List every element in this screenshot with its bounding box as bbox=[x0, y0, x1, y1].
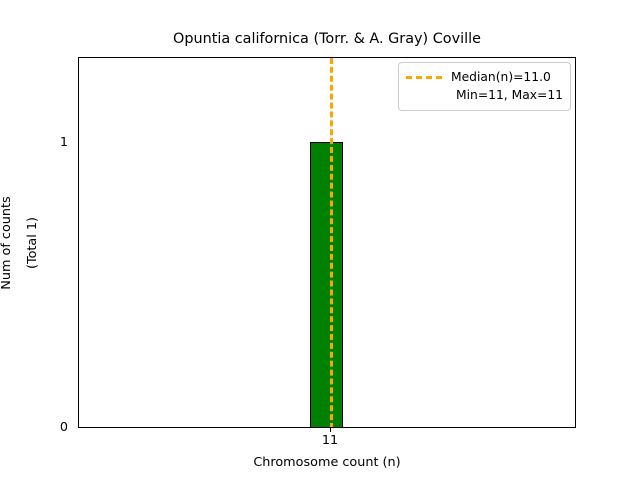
plot-area bbox=[78, 57, 576, 428]
legend-label-range: Min=11, Max=11 bbox=[456, 86, 563, 104]
legend-dash-icon bbox=[406, 76, 442, 79]
y-axis-label-line2: (Total 1) bbox=[20, 196, 46, 289]
median-line bbox=[330, 58, 333, 427]
x-axis-label: Chromosome count (n) bbox=[78, 455, 576, 470]
y-tick-label-0: 0 bbox=[44, 421, 68, 434]
legend-entry-range: Min=11, Max=11 bbox=[406, 86, 563, 104]
chart-title: Opuntia californica (Torr. & A. Gray) Co… bbox=[78, 31, 576, 48]
x-tick-label-11: 11 bbox=[306, 434, 354, 448]
legend-label-median: Median(n)=11.0 bbox=[451, 68, 551, 86]
y-axis-label-line1: Num of counts bbox=[0, 196, 20, 289]
x-tick-mark-11 bbox=[330, 428, 331, 432]
legend-entry-median: Median(n)=11.0 bbox=[406, 68, 563, 86]
legend[interactable]: Median(n)=11.0 Min=11, Max=11 bbox=[398, 62, 571, 111]
y-axis-label: Num of counts (Total 1) bbox=[0, 57, 40, 428]
bar-11 bbox=[310, 142, 343, 427]
figure-canvas: Opuntia californica (Torr. & A. Gray) Co… bbox=[0, 0, 640, 480]
y-tick-label-1: 1 bbox=[44, 136, 68, 149]
